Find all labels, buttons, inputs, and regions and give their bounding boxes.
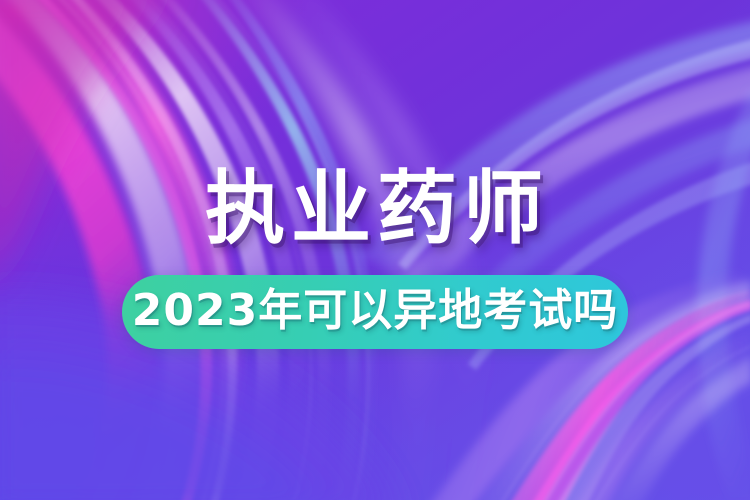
banner-content: 执业药师 2023年可以异地考试吗 <box>0 0 750 500</box>
page-title: 执业药师 <box>205 151 549 249</box>
subtitle-pill: 2023年可以异地考试吗 <box>122 275 628 349</box>
promo-banner: 执业药师 2023年可以异地考试吗 <box>0 0 750 500</box>
subtitle-text: 2023年可以异地考试吗 <box>132 289 618 333</box>
